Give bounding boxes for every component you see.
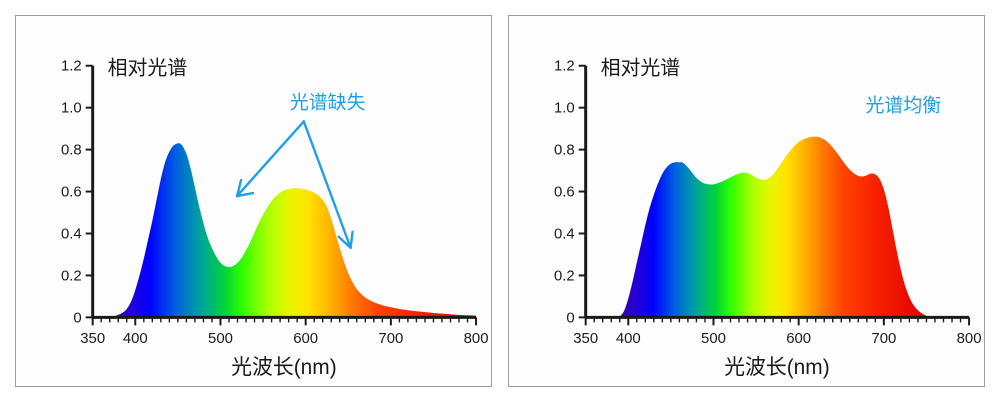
y-tick-label: 0.2 [61,267,82,284]
y-tick-label: 0 [73,309,81,326]
x-tick-label: 400 [616,330,641,347]
x-tick-label: 700 [378,330,403,347]
figure-root: 00.20.40.60.81.01.2 350400500600700800 相… [0,0,1000,401]
y-tick-label: 0.8 [554,142,575,159]
spectrum-balanced-panel: 00.20.40.60.81.01.2 350400500600700800 相… [508,15,985,387]
x-tick-label: 600 [786,330,811,347]
y-tick-label: 0.2 [554,267,575,284]
annotation-text-left: 光谱缺失 [290,92,366,114]
x-tick-label: 800 [957,330,982,347]
x-tick-labels-right: 350400500600700800 [573,330,981,347]
x-tick-labels-left: 350400500600700800 [80,330,488,347]
y-tick-label: 1.0 [554,100,575,117]
spectrum-curve-right [586,137,969,318]
spectrum-deficient-panel: 00.20.40.60.81.01.2 350400500600700800 相… [15,15,492,387]
y-tick-label: 0 [566,309,574,326]
chart-left: 00.20.40.60.81.01.2 350400500600700800 相… [16,16,491,386]
y-tick-label: 0.4 [61,225,82,242]
y-tick-label: 0.6 [554,184,575,201]
y-tick-label: 1.0 [61,100,82,117]
annotation-group-right: 光谱均衡 [866,94,942,116]
spectrum-curve-left [93,143,476,317]
y-tick-labels-left: 00.20.40.60.81.01.2 [61,58,82,327]
x-tick-label: 600 [293,330,318,347]
chart-right: 00.20.40.60.81.01.2 350400500600700800 相… [509,16,984,386]
plot-title-right: 相对光谱 [601,57,681,80]
x-tick-label: 350 [80,330,105,347]
y-tick-label: 0.4 [554,225,575,242]
annotation-text-right: 光谱均衡 [866,94,942,116]
y-tick-labels-right: 00.20.40.60.81.01.2 [554,58,575,327]
x-tick-label: 500 [208,330,233,347]
y-tick-label: 1.2 [554,58,575,75]
y-tick-label: 0.8 [61,142,82,159]
x-tick-label: 350 [573,330,598,347]
x-tick-label: 500 [701,330,726,347]
x-tick-label: 700 [871,330,896,347]
x-tick-label: 400 [123,330,148,347]
x-axis-title-right: 光波长(nm) [724,356,830,379]
x-tick-label: 800 [464,330,489,347]
y-tick-label: 1.2 [61,58,82,75]
y-tick-label: 0.6 [61,184,82,201]
plot-title-left: 相对光谱 [108,57,188,80]
x-axis-title-left: 光波长(nm) [231,356,337,379]
